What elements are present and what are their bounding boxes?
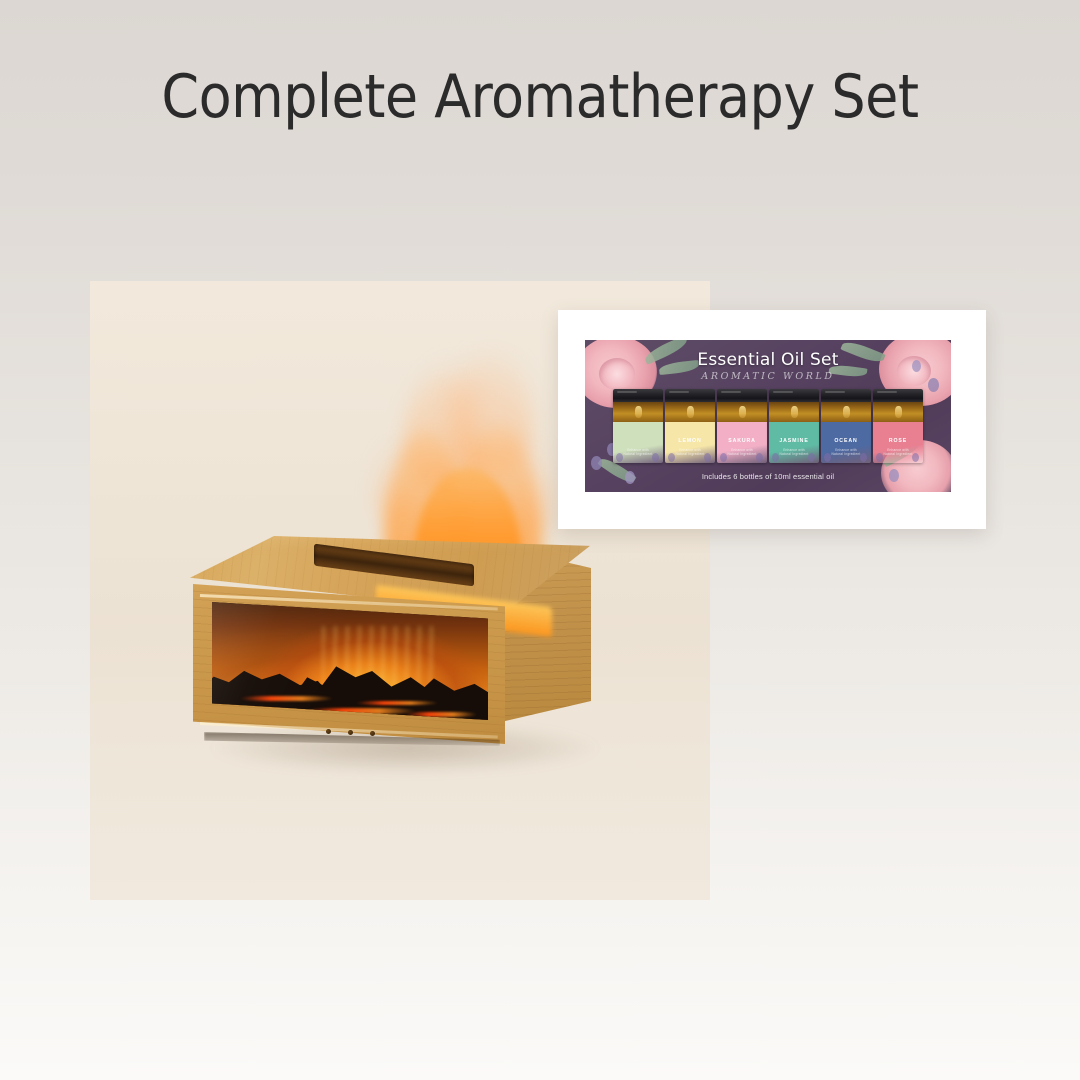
label-sprig-icon <box>652 453 659 462</box>
label-sprig-icon <box>912 453 919 462</box>
bottle-cap <box>821 389 871 402</box>
label-sprig-icon <box>808 453 815 462</box>
bottle-scent-name: ROSE <box>873 438 923 444</box>
diffuser-unit <box>190 536 610 796</box>
label-sprig-icon <box>860 453 867 462</box>
bottle-label: ROSEEnhance withNatural Ingredient <box>873 422 923 463</box>
power-button[interactable] <box>326 729 331 734</box>
bottle-scent-name: SAKURA <box>717 438 767 444</box>
light-button[interactable] <box>370 731 375 736</box>
bottle-amber-glass <box>665 402 715 422</box>
oil-box-title: Essential Oil Set <box>585 350 951 370</box>
oil-bottle: JASMINEEnhance withNatural Ingredient <box>769 389 819 463</box>
bottle-cap <box>613 389 663 402</box>
page-title: Complete Aromatherapy Set <box>0 62 1080 132</box>
bottle-label: SAKURAEnhance withNatural Ingredient <box>717 422 767 463</box>
oil-bottle: OCEANEnhance withNatural Ingredient <box>821 389 871 463</box>
oil-box-subtitle: AROMATIC WORLD <box>585 371 951 382</box>
fireplace-viewing-window <box>212 602 488 720</box>
label-sprig-icon <box>756 453 763 462</box>
label-sprig-icon <box>876 453 883 462</box>
bottle-label: JASMINEEnhance withNatural Ingredient <box>769 422 819 463</box>
bottle-label: Enhance withNatural Ingredient <box>613 422 663 463</box>
bottle-scent-name: OCEAN <box>821 438 871 444</box>
oil-bottle: ROSEEnhance withNatural Ingredient <box>873 389 923 463</box>
bottle-amber-glass <box>873 402 923 422</box>
bottle-label: LEMONEnhance withNatural Ingredient <box>665 422 715 463</box>
label-sprig-icon <box>824 453 831 462</box>
bottle-scent-name: JASMINE <box>769 438 819 444</box>
bottle-amber-glass <box>717 402 767 422</box>
bottle-scent-name: LEMON <box>665 438 715 444</box>
bottle-cap <box>665 389 715 402</box>
berry-sprig-icon <box>591 456 602 470</box>
essential-oil-box: Essential Oil Set AROMATIC WORLD Enhance… <box>585 340 951 492</box>
mist-button[interactable] <box>348 730 353 735</box>
oil-bottle: SAKURAEnhance withNatural Ingredient <box>717 389 767 463</box>
bottle-cap <box>769 389 819 402</box>
label-sprig-icon <box>720 453 727 462</box>
essential-oil-card: Essential Oil Set AROMATIC WORLD Enhance… <box>558 310 986 529</box>
bottle-amber-glass <box>613 402 663 422</box>
oil-box-footnote: Includes 6 bottles of 10ml essential oil <box>585 472 951 481</box>
bottle-cap <box>873 389 923 402</box>
label-sprig-icon <box>704 453 711 462</box>
bottle-amber-glass <box>769 402 819 422</box>
bottle-amber-glass <box>821 402 871 422</box>
label-sprig-icon <box>772 453 779 462</box>
label-sprig-icon <box>616 453 623 462</box>
oil-bottle-row: Enhance withNatural IngredientLEMONEnhan… <box>613 389 923 463</box>
oil-bottle: LEMONEnhance withNatural Ingredient <box>665 389 715 463</box>
glass-reflection <box>212 602 488 720</box>
label-sprig-icon <box>668 453 675 462</box>
bottle-label: OCEANEnhance withNatural Ingredient <box>821 422 871 463</box>
bottle-cap <box>717 389 767 402</box>
oil-bottle: Enhance withNatural Ingredient <box>613 389 663 463</box>
